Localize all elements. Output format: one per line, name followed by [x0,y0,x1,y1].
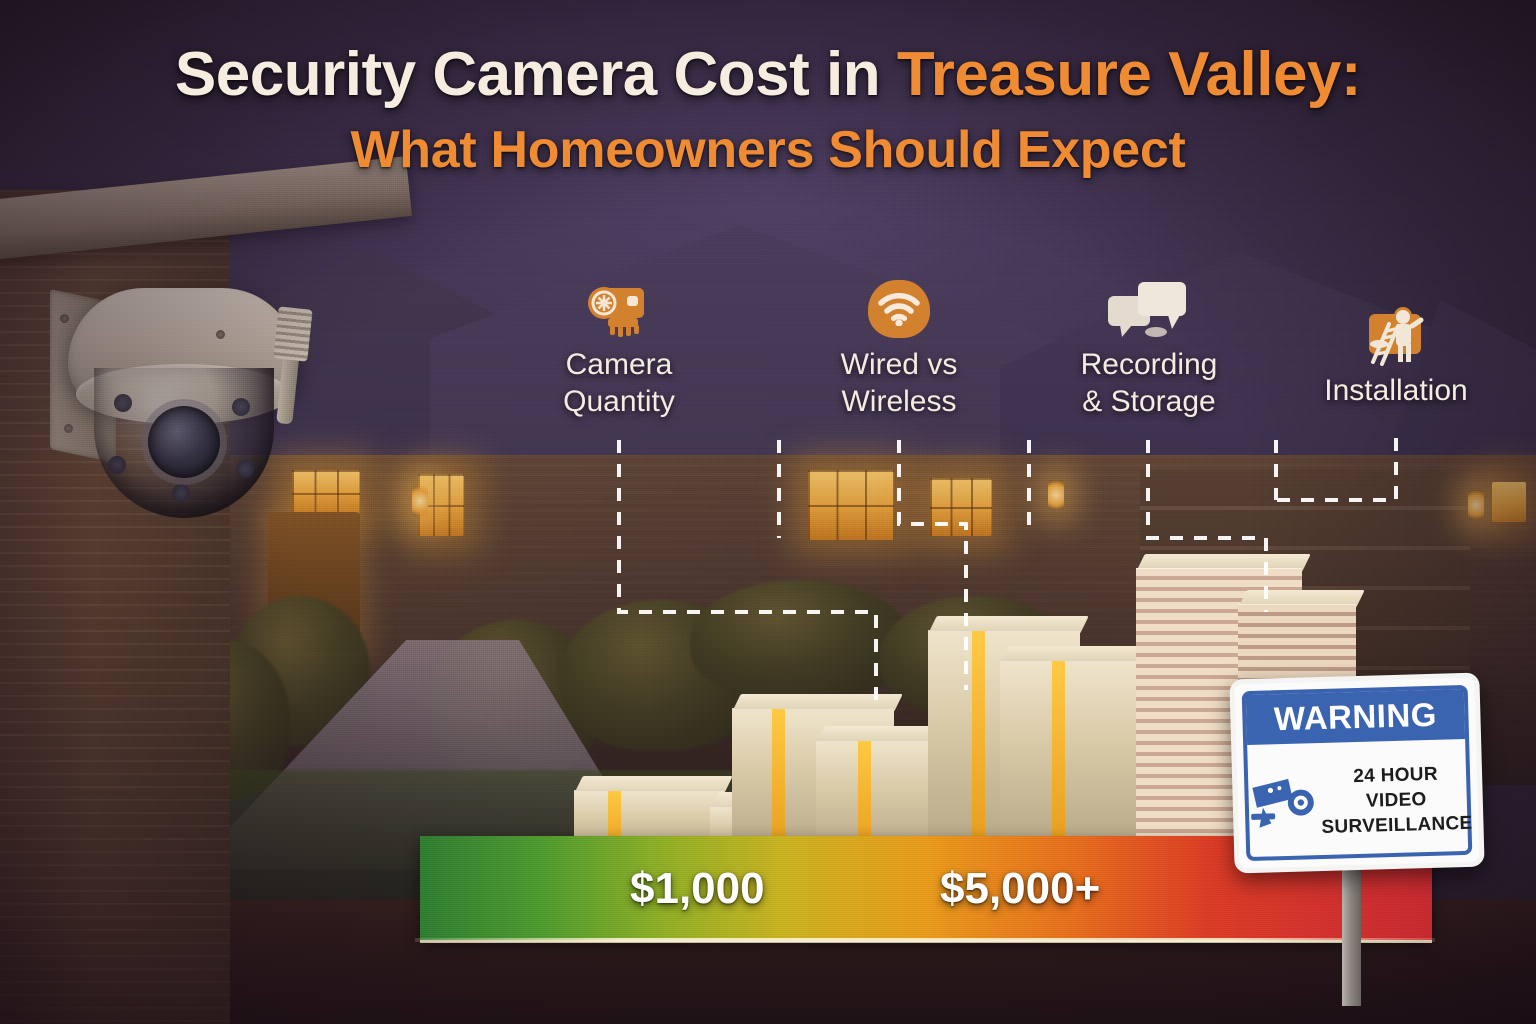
sign-line-1: 24 HOUR [1353,763,1438,787]
ladder-worker-glyph [1359,304,1433,366]
title-accent-part: Treasure Valley: [897,40,1361,109]
feature-label-line2: Quantity [499,383,739,420]
porch-lamp [1468,490,1484,520]
feature-installation: Installation [1276,304,1516,409]
feature-label-line2: & Storage [1029,383,1269,420]
feature-label-line1: Camera [499,346,739,383]
sign-text-block: 24 HOUR VIDEO SURVEILLANCE [1319,746,1473,855]
sign-header-text: WARNING [1273,696,1437,739]
feature-label: Recording & Storage [1029,346,1269,420]
feature-label-line1: Wired vs [779,346,1019,383]
infographic-poster: $1,000 $5,000+ WARNING [0,0,1536,1024]
wifi-icon [779,278,1019,340]
ladder-worker-icon [1276,304,1516,366]
sign-body: 24 HOUR VIDEO SURVEILLANCE [1247,746,1468,857]
title-block: Security Camera Cost in Treasure Valley:… [0,42,1536,180]
feature-label-line1: Installation [1276,372,1516,409]
feature-label: Installation [1276,372,1516,409]
feature-label: Camera Quantity [499,346,739,420]
cost-high-label: $5,000+ [940,864,1100,914]
feature-label-line2: Wireless [779,383,1019,420]
feature-label-line1: Recording [1029,346,1269,383]
sign-line-2: VIDEO [1366,789,1427,813]
window-lit [930,478,992,536]
cctv-camera-glyph [1248,772,1322,836]
page-subtitle: What Homeowners Should Expect [0,120,1536,180]
sign-line-3: SURVEILLANCE [1321,812,1473,838]
window-lit [808,470,894,540]
bullet-camera-glyph [582,278,656,340]
cash-band [972,631,985,860]
porch-lamp [412,486,428,516]
sign-header-bar: WARNING [1246,689,1465,745]
speech-bubbles-icon [1029,278,1269,340]
warning-yard-sign: WARNING 24 HOUR [1232,676,1482,870]
window-lit [1492,482,1526,522]
page-title-line-1: Security Camera Cost in Treasure Valley: [0,42,1536,108]
porch-lamp [1048,480,1064,510]
feature-icon-row: Camera Quantity Wired vs Wireless [0,278,1536,438]
feature-camera-quantity: Camera Quantity [499,278,739,420]
cctv-camera-icon [1247,750,1322,857]
cost-low-label: $1,000 [630,864,765,914]
cost-bar-baseline [415,938,1435,942]
title-plain-part: Security Camera Cost in [175,40,897,109]
speech-bubbles-glyph [1106,280,1192,338]
cash-band [1052,661,1065,860]
feature-wired-vs-wireless: Wired vs Wireless [779,278,1019,420]
feature-recording-storage: Recording & Storage [1029,278,1269,420]
wifi-glyph [878,292,920,326]
ir-led [236,460,254,478]
bullet-camera-icon [499,278,739,340]
ir-led [172,484,190,502]
ir-led [108,456,126,474]
wifi-badge [868,280,930,338]
sign-face: WARNING 24 HOUR [1229,673,1484,874]
feature-label: Wired vs Wireless [779,346,1019,420]
